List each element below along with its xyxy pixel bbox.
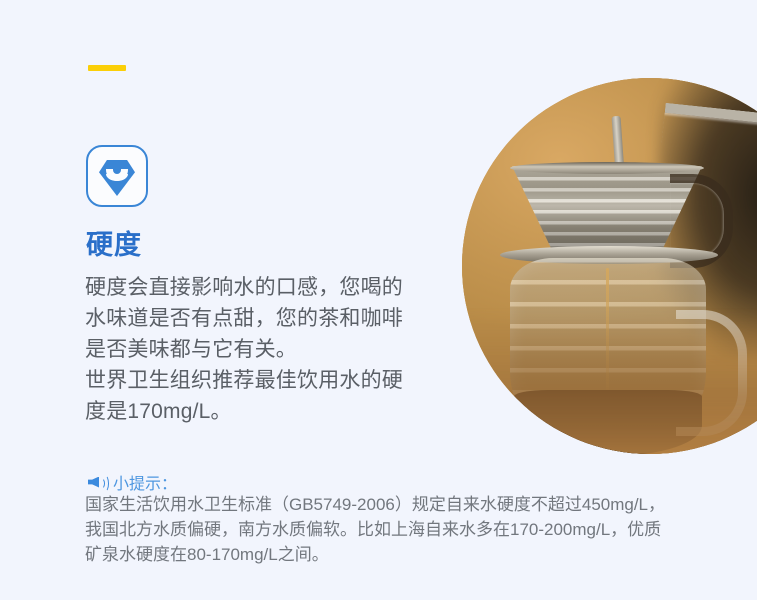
speaker-icon — [88, 475, 107, 490]
tip-label: 小提示： — [113, 470, 177, 494]
feature-body-line: 世界卫生组织推荐最佳饮用水的硬 — [85, 365, 495, 396]
feature-title: 硬度 — [86, 232, 142, 259]
pour-over-coffee-photo — [462, 78, 757, 454]
dripper-rim — [510, 162, 704, 174]
infographic-page: 硬度 硬度会直接影响水的口感，您喝的 水味道是否有点甜，您的茶和咖啡 是否美味都… — [0, 0, 757, 600]
diamond-gem-icon — [86, 145, 148, 207]
tip-body-line: 国家生活饮用水卫生标准（GB5749-2006）规定自来水硬度不超过450mg/… — [85, 492, 757, 517]
photo-foreground-blur — [462, 314, 757, 454]
speaker-wave-outer — [101, 475, 109, 492]
feature-body-line: 度是170mg/L。 — [85, 396, 495, 427]
feature-body-line: 是否美味都与它有关。 — [85, 334, 495, 365]
tip-body-line: 矿泉水硬度在80-170mg/L之间。 — [85, 542, 757, 567]
feature-body-line: 水味道是否有点甜，您的茶和咖啡 — [85, 303, 495, 334]
feature-body: 硬度会直接影响水的口感，您喝的 水味道是否有点甜，您的茶和咖啡 是否美味都与它有… — [85, 272, 495, 427]
feature-body-line: 硬度会直接影响水的口感，您喝的 — [85, 272, 495, 303]
accent-bar — [88, 65, 126, 71]
tip-body-line: 我国北方水质偏硬，南方水质偏软。比如上海自来水多在170-200mg/L，优质 — [85, 517, 757, 542]
tip-body: 国家生活饮用水卫生标准（GB5749-2006）规定自来水硬度不超过450mg/… — [85, 492, 757, 567]
tip-heading: 小提示： — [88, 470, 177, 494]
